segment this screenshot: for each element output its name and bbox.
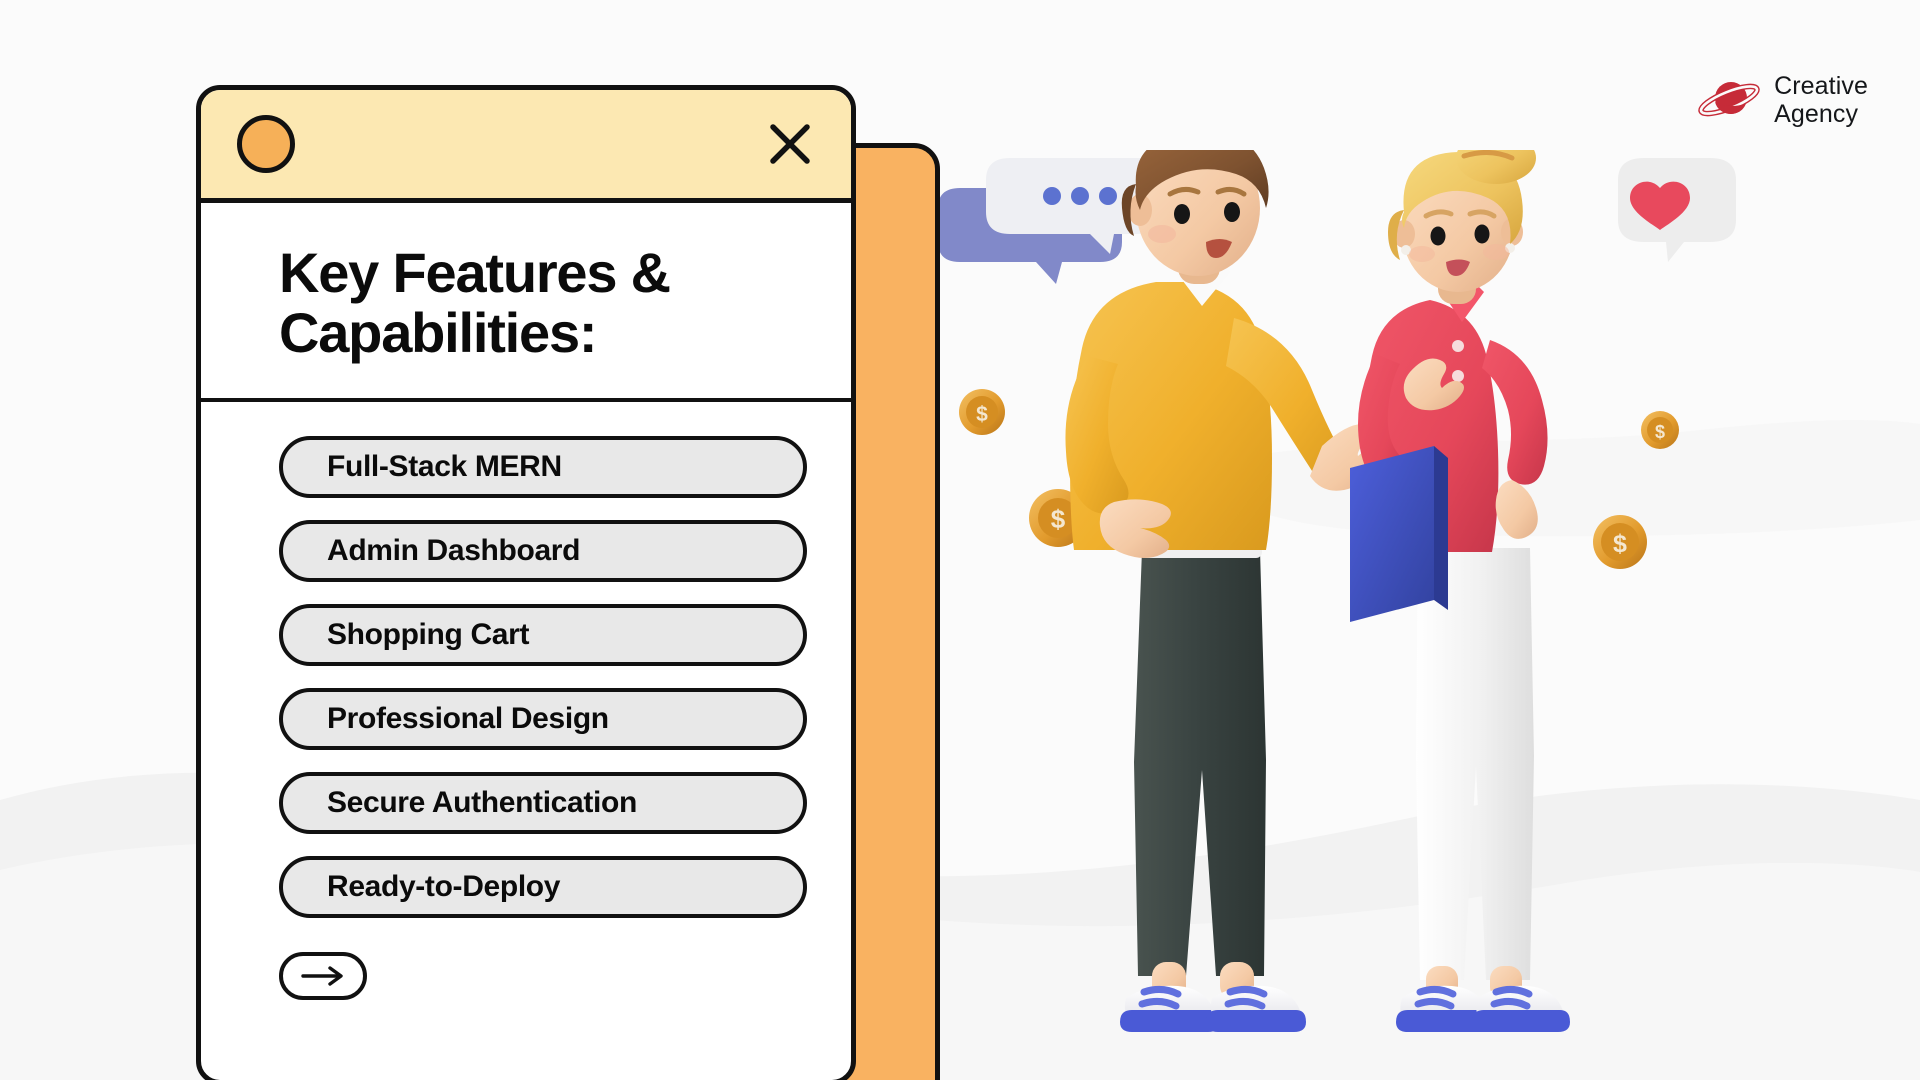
title-line-1: Key Features & <box>279 241 670 304</box>
arrow-right-icon <box>297 965 349 987</box>
feature-card: Key Features & Capabilities: Full-Stack … <box>196 85 856 1080</box>
slide-canvas: Creative Agency Key Features & Capabilit… <box>0 0 1920 1080</box>
feature-item-admin-dashboard[interactable]: Admin Dashboard <box>279 520 807 582</box>
woman-character <box>1350 150 1570 1032</box>
heart-bubble <box>1618 158 1736 262</box>
card-titlebar <box>201 90 851 203</box>
feature-card-wrapper: Key Features & Capabilities: Full-Stack … <box>196 85 896 1080</box>
bubble-dot <box>1071 187 1089 205</box>
brand-line-1: Creative <box>1774 72 1868 100</box>
bubble-dot <box>1099 187 1117 205</box>
coin-dollar: $ <box>959 389 1005 435</box>
book <box>1350 446 1448 622</box>
sneakers <box>1120 986 1306 1032</box>
title-line-2: Capabilities: <box>279 301 596 364</box>
feature-item-ready-to-deploy[interactable]: Ready-to-Deploy <box>279 856 807 918</box>
planet-icon <box>1698 77 1760 123</box>
close-icon[interactable] <box>767 121 813 167</box>
svg-text:$: $ <box>1655 422 1665 442</box>
feature-item-secure-authentication[interactable]: Secure Authentication <box>279 772 807 834</box>
brand-line-2: Agency <box>1774 100 1868 128</box>
two-people-3d-illustration: $ $ $ $ <box>930 150 1790 1050</box>
man-character <box>1065 150 1390 1032</box>
window-dot-icon <box>237 115 295 173</box>
svg-text:$: $ <box>976 403 988 426</box>
coin-dollar: $ <box>1641 411 1679 449</box>
brand-logo: Creative Agency <box>1698 72 1868 128</box>
feature-item-shopping-cart[interactable]: Shopping Cart <box>279 604 807 666</box>
svg-text:$: $ <box>1613 530 1627 558</box>
bubble-dot <box>1043 187 1061 205</box>
brand-name: Creative Agency <box>1774 72 1868 128</box>
feature-item-professional-design[interactable]: Professional Design <box>279 688 807 750</box>
coin-dollar: $ <box>1593 515 1647 569</box>
feature-item-full-stack-mern[interactable]: Full-Stack MERN <box>279 436 807 498</box>
svg-text:$: $ <box>1051 504 1066 534</box>
feature-list: Full-Stack MERN Admin Dashboard Shopping… <box>201 402 851 1080</box>
next-button[interactable] <box>279 952 367 1000</box>
page-title: Key Features & Capabilities: <box>279 243 803 364</box>
card-title-block: Key Features & Capabilities: <box>201 203 851 402</box>
sneakers <box>1396 986 1570 1032</box>
